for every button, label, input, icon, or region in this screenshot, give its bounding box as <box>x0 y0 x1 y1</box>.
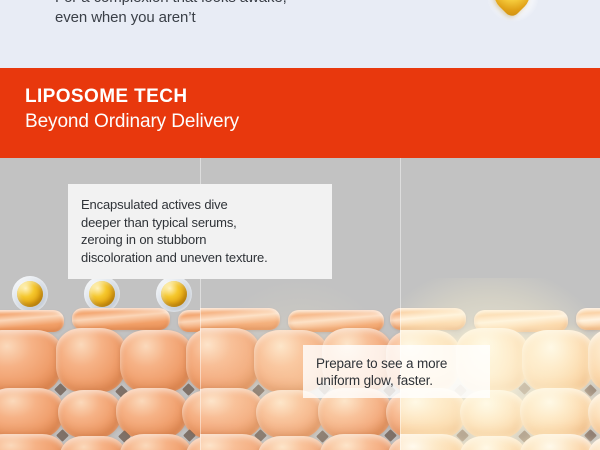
skin-cell <box>0 330 62 392</box>
banner-title: LIPOSOME TECH <box>25 86 188 108</box>
skin-cell <box>56 328 126 392</box>
skin-cell <box>0 388 64 438</box>
skin-cell <box>460 436 526 450</box>
product-infographic-page: For a complexion that looks awake, even … <box>0 0 600 450</box>
gold-liposome <box>156 276 192 312</box>
skin-cell <box>576 308 600 330</box>
skin-cell <box>522 330 594 392</box>
skin-cell <box>60 436 126 450</box>
skin-cell <box>520 434 594 450</box>
callout-glow: Prepare to see a more uniform glow, fast… <box>303 345 490 398</box>
skin-cell <box>200 328 260 392</box>
gold-liposome <box>12 276 48 312</box>
intro-copy: For a complexion that looks awake, even … <box>55 0 287 28</box>
illustration-panel-3 <box>400 158 600 450</box>
skin-cell <box>200 388 264 438</box>
skin-cell <box>258 436 326 450</box>
skin-cell <box>120 434 192 450</box>
liposome-tech-banner: LIPOSOME TECH Beyond Ordinary Delivery <box>0 68 600 158</box>
skin-cell <box>178 310 200 332</box>
skin-cell <box>588 328 600 392</box>
callout-deeper: Encapsulated actives dive deeper than ty… <box>68 184 332 279</box>
skin-cell <box>320 434 394 450</box>
skin-cell <box>520 388 594 438</box>
banner-subtitle: Beyond Ordinary Delivery <box>25 111 239 133</box>
skin-cell <box>58 390 122 438</box>
callout-glow-text: Prepare to see a more uniform glow, fast… <box>316 355 447 389</box>
skin-cell <box>72 308 170 330</box>
gold-liposome <box>84 276 120 312</box>
skin-cell <box>116 388 188 438</box>
intro-strip: For a complexion that looks awake, even … <box>0 0 600 68</box>
skin-cell <box>120 330 192 392</box>
callout-deeper-text: Encapsulated actives dive deeper than ty… <box>81 196 268 266</box>
skin-cell <box>0 310 64 332</box>
skin-cell <box>390 308 400 330</box>
skin-cell <box>400 308 466 330</box>
skin-cell <box>200 308 280 330</box>
